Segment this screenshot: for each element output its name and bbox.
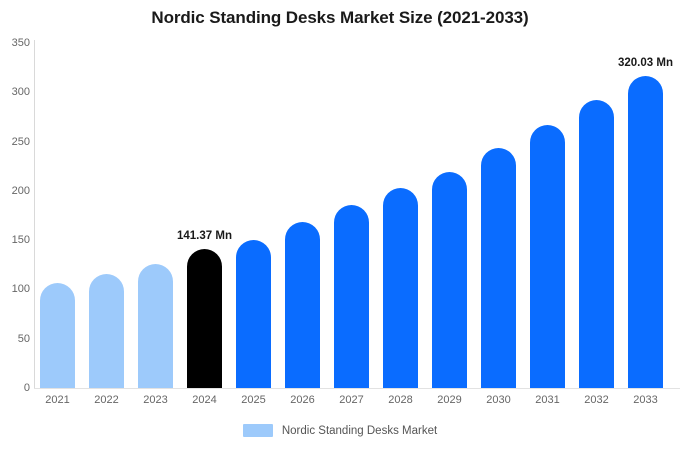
bar-2022[interactable] bbox=[89, 274, 124, 388]
bar-2024[interactable] bbox=[187, 249, 222, 388]
x-axis-tick-2029: 2029 bbox=[432, 394, 467, 406]
x-axis-tick-2032: 2032 bbox=[579, 394, 614, 406]
bar-2032[interactable] bbox=[579, 100, 614, 388]
chart-title: Nordic Standing Desks Market Size (2021-… bbox=[0, 8, 680, 28]
y-axis-tick-250: 250 bbox=[0, 136, 30, 148]
bar-2021[interactable] bbox=[40, 283, 75, 388]
bar-2029[interactable] bbox=[432, 172, 467, 388]
x-axis-tick-2033: 2033 bbox=[628, 394, 663, 406]
x-axis-tick-2025: 2025 bbox=[236, 394, 271, 406]
legend-swatch-nordic-standing-desks-market bbox=[243, 424, 273, 437]
y-axis-line bbox=[34, 40, 35, 389]
bar-2025[interactable] bbox=[236, 240, 271, 388]
y-axis-tick-0: 0 bbox=[0, 382, 30, 394]
y-axis-tick-300: 300 bbox=[0, 86, 30, 98]
x-axis-tick-2023: 2023 bbox=[138, 394, 173, 406]
bar-value-label-2033: 320.03 Mn bbox=[618, 57, 673, 69]
legend-label: Nordic Standing Desks Market bbox=[282, 425, 437, 437]
bar-2023[interactable] bbox=[138, 264, 173, 388]
x-axis-tick-2022: 2022 bbox=[89, 394, 124, 406]
bar-value-label-2024: 141.37 Mn bbox=[177, 230, 232, 242]
bar-2031[interactable] bbox=[530, 125, 565, 388]
y-axis-tick-200: 200 bbox=[0, 185, 30, 197]
x-axis-line bbox=[34, 388, 680, 389]
y-axis-tick-50: 50 bbox=[0, 333, 30, 345]
y-axis-tick-labels: 050100150200250300350 bbox=[0, 0, 30, 450]
chart-legend: Nordic Standing Desks Market bbox=[0, 424, 680, 437]
x-axis-tick-2027: 2027 bbox=[334, 394, 369, 406]
bar-2027[interactable] bbox=[334, 205, 369, 388]
bar-2026[interactable] bbox=[285, 222, 320, 388]
bar-2030[interactable] bbox=[481, 148, 516, 388]
x-axis-tick-2024: 2024 bbox=[187, 394, 222, 406]
x-axis-tick-2031: 2031 bbox=[530, 394, 565, 406]
x-axis-tick-2028: 2028 bbox=[383, 394, 418, 406]
y-axis-tick-350: 350 bbox=[0, 37, 30, 49]
y-axis-tick-100: 100 bbox=[0, 283, 30, 295]
chart-container: Nordic Standing Desks Market Size (2021-… bbox=[0, 0, 680, 450]
x-axis-tick-2030: 2030 bbox=[481, 394, 516, 406]
x-axis-tick-2026: 2026 bbox=[285, 394, 320, 406]
bar-2028[interactable] bbox=[383, 188, 418, 388]
bar-2033[interactable] bbox=[628, 76, 663, 388]
y-axis-tick-150: 150 bbox=[0, 234, 30, 246]
x-axis-tick-2021: 2021 bbox=[40, 394, 75, 406]
